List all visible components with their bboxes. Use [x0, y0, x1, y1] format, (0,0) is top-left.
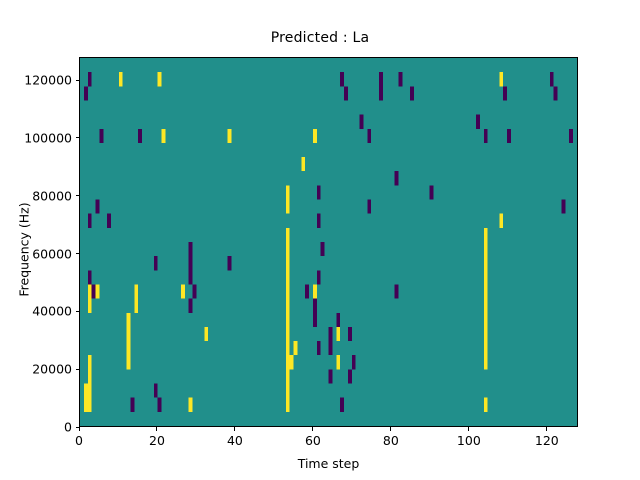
x-tick-label: 60 — [305, 433, 321, 448]
y-tick-label: 0 — [64, 420, 72, 435]
y-tick-label: 60000 — [32, 246, 72, 261]
x-tick-mark — [546, 427, 547, 431]
x-tick-mark — [312, 427, 313, 431]
y-tick-label: 40000 — [32, 304, 72, 319]
y-tick-label: 20000 — [32, 362, 72, 377]
x-tick-label: 20 — [149, 433, 165, 448]
y-tick-label: 100000 — [24, 130, 72, 145]
y-tick-mark — [76, 369, 80, 370]
x-tick-mark — [156, 427, 157, 431]
x-axis-label: Time step — [79, 456, 578, 471]
y-tick-mark — [76, 195, 80, 196]
x-tick-label: 120 — [535, 433, 559, 448]
x-tick-mark — [390, 427, 391, 431]
x-tick-mark — [468, 427, 469, 431]
y-tick-mark — [76, 253, 80, 254]
y-tick-mark — [76, 311, 80, 312]
y-tick-mark — [76, 80, 80, 81]
y-tick-label: 120000 — [24, 73, 72, 88]
page-title: Predicted : La — [0, 30, 640, 46]
y-tick-mark — [76, 137, 80, 138]
matplotlib-figure: Predicted : La Frequency (Hz) Time step … — [0, 0, 640, 480]
y-axis-label: Frequency (Hz) — [17, 130, 32, 370]
x-tick-mark — [234, 427, 235, 431]
x-tick-mark — [79, 427, 80, 431]
x-tick-label: 40 — [227, 433, 243, 448]
x-tick-label: 0 — [75, 433, 83, 448]
heatmap-plot-area — [79, 57, 578, 427]
x-tick-label: 100 — [457, 433, 481, 448]
x-tick-label: 80 — [383, 433, 399, 448]
heatmap-canvas — [80, 58, 577, 426]
y-tick-label: 80000 — [32, 188, 72, 203]
